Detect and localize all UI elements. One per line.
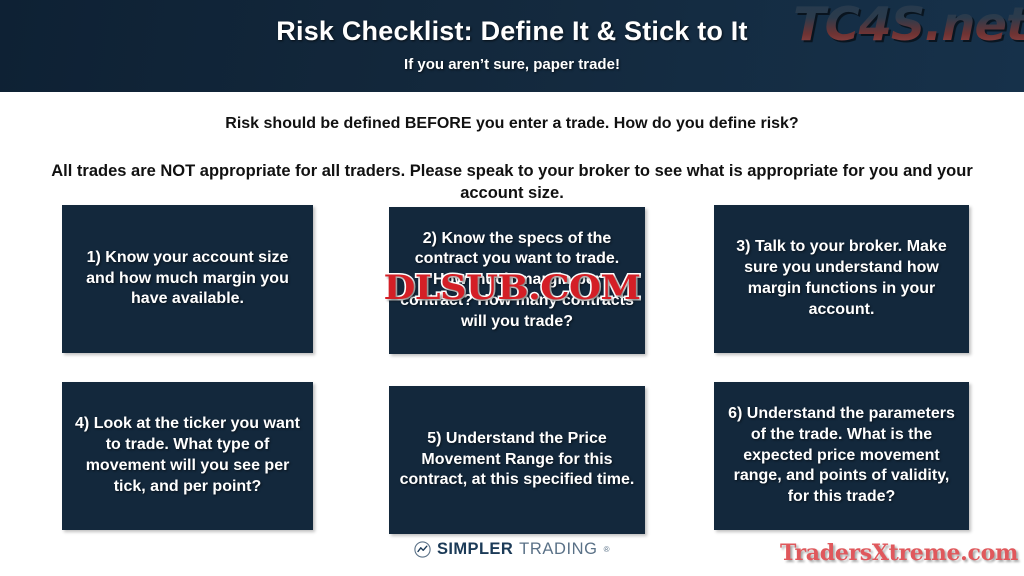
logo-simpler-text: SIMPLER [437,540,513,559]
checklist-box-4-text: 4) Look at the ticker you want to trade.… [72,414,303,497]
checklist-box-5-text: 5) Understand the Price Movement Range f… [399,429,635,491]
header-band: Risk Checklist: Define It & Stick to It … [0,0,1024,92]
logo-trading-text: TRADING [519,540,597,559]
checklist-box-1-text: 1) Know your account size and how much m… [72,248,303,310]
tradersxtreme-watermark: TradersXtreme.com [780,540,1018,566]
checklist-box-6-text: 6) Understand the parameters of the trad… [724,404,959,508]
checklist-box-1: 1) Know your account size and how much m… [62,205,313,353]
page-subtitle: If you aren’t sure, paper trade! [0,56,1024,73]
chart-circle-icon [414,541,431,558]
logo-registered-mark: ® [604,545,610,554]
checklist-box-4: 4) Look at the ticker you want to trade.… [62,382,313,530]
intro-disclaimer: All trades are NOT appropriate for all t… [30,160,994,204]
simpler-trading-logo: SIMPLER TRADING ® [414,540,610,559]
intro-question: Risk should be defined BEFORE you enter … [0,115,1024,133]
dlsub-watermark: DLSUB.COM [356,268,667,308]
checklist-box-3-text: 3) Talk to your broker. Make sure you un… [724,237,959,320]
tc4s-watermark: TC4S.net [793,0,1024,51]
checklist-box-3: 3) Talk to your broker. Make sure you un… [714,205,969,353]
checklist-box-5: 5) Understand the Price Movement Range f… [389,386,645,534]
checklist-box-6: 6) Understand the parameters of the trad… [714,382,969,530]
